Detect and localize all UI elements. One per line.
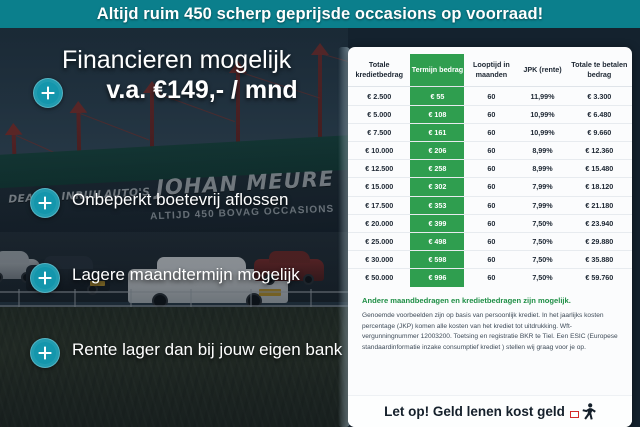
- legal-warning-bar: Let op! Geld lenen kost geld: [348, 395, 632, 427]
- table-cell: € 35.880: [567, 251, 632, 269]
- column-header-total-payable: Totale te betalen bedrag: [567, 54, 632, 87]
- table-cell: € 10.000: [348, 142, 410, 160]
- table-cell: 60: [464, 87, 518, 105]
- table-cell: € 21.180: [567, 196, 632, 214]
- table-cell: 60: [464, 123, 518, 141]
- column-header-monthly-amount: Termijn bedrag: [410, 54, 464, 87]
- table-cell: € 206: [410, 142, 464, 160]
- table-cell: € 9.660: [567, 123, 632, 141]
- list-item: Lagere maandtermijn mogelijk: [30, 255, 348, 330]
- table-cell: 8,99%: [518, 160, 566, 178]
- table-cell: € 15.000: [348, 178, 410, 196]
- table-cell: 60: [464, 105, 518, 123]
- table-cell: € 29.880: [567, 232, 632, 250]
- table-cell: € 498: [410, 232, 464, 250]
- table-cell: € 2.500: [348, 87, 410, 105]
- table-row: € 15.000€ 302607,99%€ 18.120: [348, 178, 632, 196]
- table-cell: 7,99%: [518, 196, 566, 214]
- table-row: € 12.500€ 258608,99%€ 15.480: [348, 160, 632, 178]
- table-cell: 60: [464, 232, 518, 250]
- table-cell: € 12.500: [348, 160, 410, 178]
- table-cell: € 50.000: [348, 269, 410, 287]
- plus-icon: [37, 345, 53, 361]
- plus-icon-bullet-3: [30, 338, 60, 368]
- table-row: € 10.000€ 206608,99%€ 12.360: [348, 142, 632, 160]
- running-man-warning-icon: [570, 403, 596, 420]
- table-cell: € 25.000: [348, 232, 410, 250]
- table-row: € 30.000€ 598607,50%€ 35.880: [348, 251, 632, 269]
- column-header-total-credit: Totale kredietbedrag: [348, 54, 410, 87]
- table-cell: € 996: [410, 269, 464, 287]
- top-banner-text: Altijd ruim 450 scherp geprijsde occasio…: [97, 5, 544, 24]
- page-title: Financieren mogelijk v.a. €149,- / mnd: [62, 47, 342, 105]
- table-cell: 7,50%: [518, 232, 566, 250]
- headline-line-1: Financieren mogelijk: [62, 47, 342, 74]
- list-item-label: Lagere maandtermijn mogelijk: [72, 265, 300, 285]
- table-cell: € 108: [410, 105, 464, 123]
- table-cell: € 55: [410, 87, 464, 105]
- table-cell: 7,50%: [518, 269, 566, 287]
- table-cell: 60: [464, 214, 518, 232]
- table-cell: 60: [464, 160, 518, 178]
- table-cell: 60: [464, 269, 518, 287]
- table-cell: 60: [464, 178, 518, 196]
- list-item-label: Rente lager dan bij jouw eigen bank: [72, 340, 342, 360]
- running-man-glyph: [581, 403, 596, 420]
- footer-title: Andere maandbedragen en kredietbedragen …: [362, 296, 618, 307]
- top-banner: Altijd ruim 450 scherp geprijsde occasio…: [0, 0, 640, 28]
- plus-icon-headline: [33, 78, 63, 108]
- table-row: € 2.500€ 556011,99%€ 3.300: [348, 87, 632, 105]
- table-row: € 25.000€ 498607,50%€ 29.880: [348, 232, 632, 250]
- table-cell: € 12.360: [567, 142, 632, 160]
- plus-icon: [37, 195, 53, 211]
- table-cell: 10,99%: [518, 123, 566, 141]
- table-cell: € 6.480: [567, 105, 632, 123]
- table-cell: 7,50%: [518, 214, 566, 232]
- feature-list: Onbeperkt boetevrij aflossen Lagere maan…: [30, 180, 348, 405]
- column-header-apr: JPK (rente): [518, 54, 566, 87]
- table-cell: 7,50%: [518, 251, 566, 269]
- table-row: € 20.000€ 399607,50%€ 23.940: [348, 214, 632, 232]
- table-cell: € 598: [410, 251, 464, 269]
- plus-icon: [37, 270, 53, 286]
- list-item-label: Onbeperkt boetevrij aflossen: [72, 190, 288, 210]
- table-cell: € 59.760: [567, 269, 632, 287]
- table-cell: 11,99%: [518, 87, 566, 105]
- table-cell: € 7.500: [348, 123, 410, 141]
- table-cell: € 302: [410, 178, 464, 196]
- plus-icon-bullet-2: [30, 263, 60, 293]
- table-header-row: Totale kredietbedrag Termijn bedrag Loop…: [348, 54, 632, 87]
- table-cell: 60: [464, 142, 518, 160]
- plus-icon: [40, 85, 56, 101]
- table-cell: 60: [464, 251, 518, 269]
- list-item: Onbeperkt boetevrij aflossen: [30, 180, 348, 255]
- table-cell: € 20.000: [348, 214, 410, 232]
- table-cell: 7,99%: [518, 178, 566, 196]
- table-cell: 60: [464, 196, 518, 214]
- table-cell: € 353: [410, 196, 464, 214]
- promo-banner-image: DEALER INRUILAUTO'S JOHAN MEURE ALTIJD 4…: [0, 0, 640, 427]
- headline-line-2: v.a. €149,- / mnd: [62, 76, 342, 105]
- table-cell: € 3.300: [567, 87, 632, 105]
- rates-table: Totale kredietbedrag Termijn bedrag Loop…: [348, 54, 632, 287]
- rates-table-body: € 2.500€ 556011,99%€ 3.300€ 5.000€ 10860…: [348, 87, 632, 287]
- footer-disclaimer: Genoemde voorbeelden zijn op basis van p…: [362, 311, 618, 354]
- column-header-duration: Looptijd in maanden: [464, 54, 518, 87]
- table-cell: € 399: [410, 214, 464, 232]
- table-cell: € 30.000: [348, 251, 410, 269]
- legal-warning-text: Let op! Geld lenen kost geld: [384, 404, 565, 419]
- list-item: Rente lager dan bij jouw eigen bank: [30, 330, 348, 405]
- table-cell: 10,99%: [518, 105, 566, 123]
- table-cell: € 258: [410, 160, 464, 178]
- financing-card: Totale kredietbedrag Termijn bedrag Loop…: [348, 47, 632, 427]
- table-cell: € 23.940: [567, 214, 632, 232]
- card-footer: Andere maandbedragen en kredietbedragen …: [348, 287, 632, 354]
- table-cell: € 15.480: [567, 160, 632, 178]
- table-row: € 50.000€ 996607,50%€ 59.760: [348, 269, 632, 287]
- table-row: € 17.500€ 353607,99%€ 21.180: [348, 196, 632, 214]
- table-row: € 5.000€ 1086010,99%€ 6.480: [348, 105, 632, 123]
- plus-icon-bullet-1: [30, 188, 60, 218]
- table-cell: € 5.000: [348, 105, 410, 123]
- table-cell: € 17.500: [348, 196, 410, 214]
- table-cell: 8,99%: [518, 142, 566, 160]
- table-cell: € 161: [410, 123, 464, 141]
- table-cell: € 18.120: [567, 178, 632, 196]
- warning-box-shape: [570, 411, 579, 418]
- table-row: € 7.500€ 1616010,99%€ 9.660: [348, 123, 632, 141]
